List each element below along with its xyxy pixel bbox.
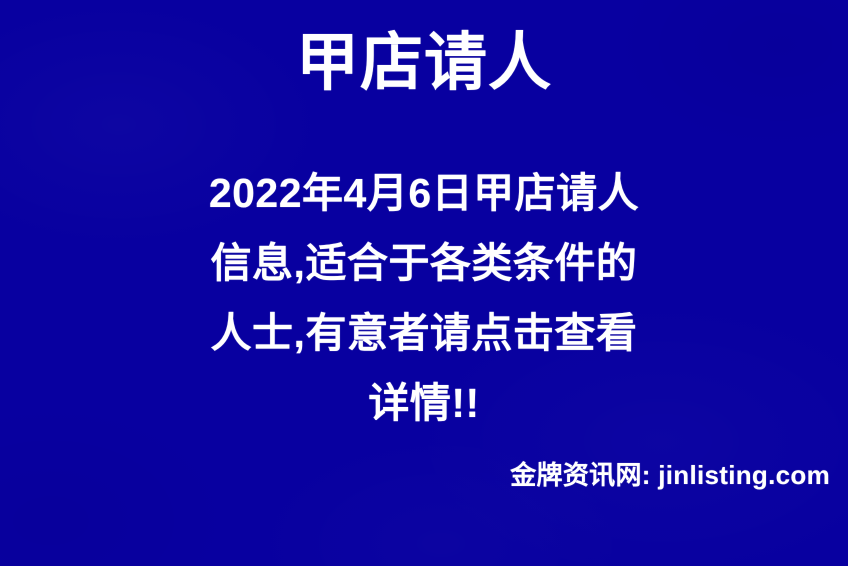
body-line-3: 人士,有意者请点击查看: [0, 298, 848, 368]
poster-content: 甲店请人 2022年4月6日甲店请人 信息,适合于各类条件的 人士,有意者请点击…: [0, 0, 848, 566]
poster-body: 2022年4月6日甲店请人 信息,适合于各类条件的 人士,有意者请点击查看 详情…: [0, 158, 848, 438]
site-attribution: 金牌资讯网: jinlisting.com: [510, 455, 830, 492]
promo-poster: 甲店请人 2022年4月6日甲店请人 信息,适合于各类条件的 人士,有意者请点击…: [0, 0, 848, 566]
body-line-4: 详情!!: [0, 368, 848, 438]
poster-headline: 甲店请人: [0, 26, 848, 100]
body-line-2: 信息,适合于各类条件的: [0, 228, 848, 298]
body-line-1: 2022年4月6日甲店请人: [0, 158, 848, 228]
